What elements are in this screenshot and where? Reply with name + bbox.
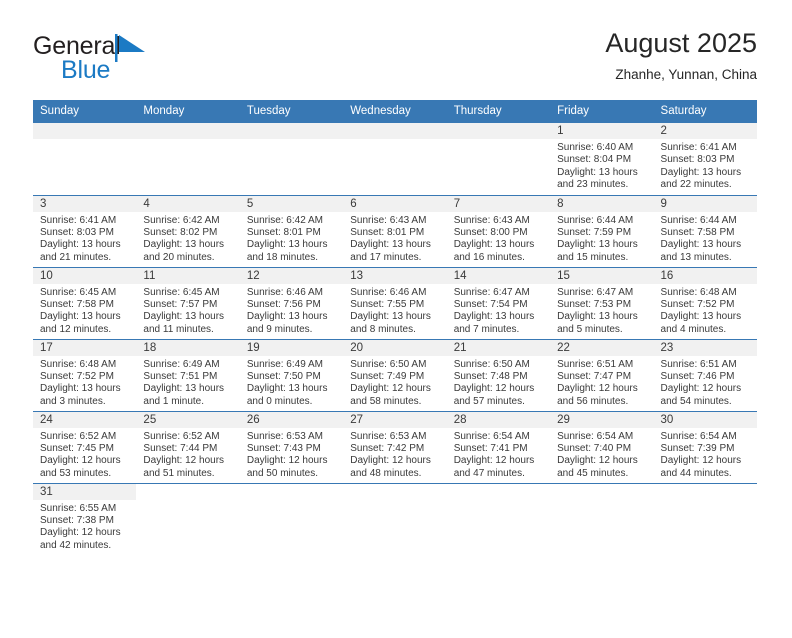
day-detail-line: Sunset: 7:39 PM: [661, 443, 751, 455]
calendar-day-cell[interactable]: 16Sunrise: 6:48 AMSunset: 7:52 PMDayligh…: [654, 267, 757, 339]
day-detail-line: Sunset: 8:00 PM: [454, 227, 544, 239]
weekday-header-friday: Friday: [550, 100, 653, 123]
day-detail-line: Sunrise: 6:46 AM: [350, 287, 440, 299]
day-detail-line: Sunrise: 6:43 AM: [350, 215, 440, 227]
day-detail-line: Sunset: 7:53 PM: [557, 299, 647, 311]
day-details: Sunrise: 6:42 AMSunset: 8:01 PMDaylight:…: [240, 212, 343, 265]
day-number: 11: [136, 268, 239, 284]
calendar-day-cell[interactable]: 19Sunrise: 6:49 AMSunset: 7:50 PMDayligh…: [240, 339, 343, 411]
day-detail-line: and 1 minute.: [143, 396, 233, 408]
calendar-day-cell[interactable]: 29Sunrise: 6:54 AMSunset: 7:40 PMDayligh…: [550, 411, 653, 483]
day-detail-line: and 5 minutes.: [557, 324, 647, 336]
day-detail-line: Sunrise: 6:41 AM: [40, 215, 130, 227]
day-number: 24: [33, 412, 136, 428]
calendar-body: 1Sunrise: 6:40 AMSunset: 8:04 PMDaylight…: [33, 123, 757, 555]
calendar-day-cell[interactable]: 31Sunrise: 6:55 AMSunset: 7:38 PMDayligh…: [33, 483, 136, 555]
day-detail-line: Sunset: 7:43 PM: [247, 443, 337, 455]
day-number: [550, 484, 653, 500]
day-detail-line: Daylight: 12 hours: [661, 383, 751, 395]
calendar-day-cell[interactable]: 26Sunrise: 6:53 AMSunset: 7:43 PMDayligh…: [240, 411, 343, 483]
day-detail-line: Daylight: 13 hours: [661, 239, 751, 251]
day-detail-line: and 54 minutes.: [661, 396, 751, 408]
day-detail-line: Daylight: 12 hours: [350, 455, 440, 467]
day-detail-line: and 48 minutes.: [350, 468, 440, 480]
calendar-empty-cell: [240, 123, 343, 195]
day-number: 26: [240, 412, 343, 428]
day-details: Sunrise: 6:43 AMSunset: 8:00 PMDaylight:…: [447, 212, 550, 265]
day-detail-line: Daylight: 13 hours: [40, 383, 130, 395]
calendar-day-cell[interactable]: 30Sunrise: 6:54 AMSunset: 7:39 PMDayligh…: [654, 411, 757, 483]
day-details: Sunrise: 6:50 AMSunset: 7:49 PMDaylight:…: [343, 356, 446, 409]
day-detail-line: Daylight: 12 hours: [661, 455, 751, 467]
day-detail-line: Daylight: 13 hours: [557, 239, 647, 251]
day-details: Sunrise: 6:40 AMSunset: 8:04 PMDaylight:…: [550, 139, 653, 192]
day-number: 12: [240, 268, 343, 284]
day-detail-line: and 13 minutes.: [661, 252, 751, 264]
day-number: 31: [33, 484, 136, 500]
day-detail-line: Sunrise: 6:54 AM: [454, 431, 544, 443]
day-number: [240, 123, 343, 139]
day-details: Sunrise: 6:53 AMSunset: 7:42 PMDaylight:…: [343, 428, 446, 481]
day-detail-line: Daylight: 12 hours: [454, 455, 544, 467]
day-detail-line: and 4 minutes.: [661, 324, 751, 336]
calendar-empty-cell: [654, 483, 757, 555]
day-number: 20: [343, 340, 446, 356]
day-detail-line: and 0 minutes.: [247, 396, 337, 408]
calendar-empty-cell: [447, 123, 550, 195]
day-number: [136, 484, 239, 500]
day-detail-line: and 57 minutes.: [454, 396, 544, 408]
day-detail-line: Sunset: 8:03 PM: [661, 154, 751, 166]
day-detail-line: Daylight: 12 hours: [143, 455, 233, 467]
day-detail-line: and 15 minutes.: [557, 252, 647, 264]
day-details: Sunrise: 6:46 AMSunset: 7:55 PMDaylight:…: [343, 284, 446, 337]
day-detail-line: Daylight: 12 hours: [247, 455, 337, 467]
day-detail-line: Sunset: 8:01 PM: [247, 227, 337, 239]
day-detail-line: and 51 minutes.: [143, 468, 233, 480]
day-detail-line: and 21 minutes.: [40, 252, 130, 264]
day-number: 19: [240, 340, 343, 356]
calendar-day-cell[interactable]: 15Sunrise: 6:47 AMSunset: 7:53 PMDayligh…: [550, 267, 653, 339]
day-detail-line: Sunset: 7:58 PM: [661, 227, 751, 239]
day-number: 25: [136, 412, 239, 428]
day-detail-line: Daylight: 12 hours: [40, 455, 130, 467]
weekday-header-monday: Monday: [136, 100, 239, 123]
day-detail-line: Sunrise: 6:54 AM: [557, 431, 647, 443]
day-detail-line: Sunset: 7:55 PM: [350, 299, 440, 311]
day-detail-line: Sunrise: 6:48 AM: [40, 359, 130, 371]
day-details: Sunrise: 6:51 AMSunset: 7:46 PMDaylight:…: [654, 356, 757, 409]
day-detail-line: Sunrise: 6:44 AM: [557, 215, 647, 227]
day-detail-line: Daylight: 13 hours: [350, 239, 440, 251]
day-detail-line: and 23 minutes.: [557, 179, 647, 191]
calendar-day-cell[interactable]: 14Sunrise: 6:47 AMSunset: 7:54 PMDayligh…: [447, 267, 550, 339]
calendar-day-cell[interactable]: 22Sunrise: 6:51 AMSunset: 7:47 PMDayligh…: [550, 339, 653, 411]
day-detail-line: Daylight: 13 hours: [143, 383, 233, 395]
day-number: [136, 123, 239, 139]
day-detail-line: and 45 minutes.: [557, 468, 647, 480]
day-detail-line: and 8 minutes.: [350, 324, 440, 336]
day-detail-line: Sunrise: 6:45 AM: [143, 287, 233, 299]
day-detail-line: Sunrise: 6:44 AM: [661, 215, 751, 227]
day-detail-line: Sunrise: 6:45 AM: [40, 287, 130, 299]
day-detail-line: Sunset: 7:42 PM: [350, 443, 440, 455]
day-number: 29: [550, 412, 653, 428]
calendar-empty-cell: [240, 483, 343, 555]
day-detail-line: Sunset: 7:59 PM: [557, 227, 647, 239]
day-detail-line: and 58 minutes.: [350, 396, 440, 408]
day-number: 16: [654, 268, 757, 284]
day-detail-line: and 22 minutes.: [661, 179, 751, 191]
day-details: Sunrise: 6:54 AMSunset: 7:40 PMDaylight:…: [550, 428, 653, 481]
day-detail-line: Sunrise: 6:54 AM: [661, 431, 751, 443]
calendar-week-row: 31Sunrise: 6:55 AMSunset: 7:38 PMDayligh…: [33, 483, 757, 555]
calendar-empty-cell: [33, 123, 136, 195]
day-detail-line: Sunrise: 6:43 AM: [454, 215, 544, 227]
day-details: Sunrise: 6:52 AMSunset: 7:45 PMDaylight:…: [33, 428, 136, 481]
day-detail-line: Daylight: 13 hours: [454, 311, 544, 323]
weekday-header-thursday: Thursday: [447, 100, 550, 123]
day-number: 28: [447, 412, 550, 428]
day-detail-line: Sunrise: 6:50 AM: [350, 359, 440, 371]
day-detail-line: Daylight: 13 hours: [557, 167, 647, 179]
day-detail-line: Sunset: 8:02 PM: [143, 227, 233, 239]
day-detail-line: Daylight: 12 hours: [557, 455, 647, 467]
day-number: 14: [447, 268, 550, 284]
day-number: 27: [343, 412, 446, 428]
page-subtitle: Zhanhe, Yunnan, China: [605, 64, 757, 86]
day-details: Sunrise: 6:45 AMSunset: 7:57 PMDaylight:…: [136, 284, 239, 337]
calendar-day-cell[interactable]: 2Sunrise: 6:41 AMSunset: 8:03 PMDaylight…: [654, 123, 757, 195]
day-number: 1: [550, 123, 653, 139]
day-number: [343, 123, 446, 139]
day-number: 22: [550, 340, 653, 356]
day-number: [654, 484, 757, 500]
calendar-day-cell[interactable]: 28Sunrise: 6:54 AMSunset: 7:41 PMDayligh…: [447, 411, 550, 483]
calendar-empty-cell: [447, 483, 550, 555]
calendar-week-row: 1Sunrise: 6:40 AMSunset: 8:04 PMDaylight…: [33, 123, 757, 195]
day-detail-line: Sunrise: 6:49 AM: [247, 359, 337, 371]
day-detail-line: Daylight: 13 hours: [143, 239, 233, 251]
day-details: Sunrise: 6:50 AMSunset: 7:48 PMDaylight:…: [447, 356, 550, 409]
day-detail-line: and 7 minutes.: [454, 324, 544, 336]
day-number: 2: [654, 123, 757, 139]
day-detail-line: Daylight: 13 hours: [350, 311, 440, 323]
day-detail-line: and 3 minutes.: [40, 396, 130, 408]
day-number: 4: [136, 196, 239, 212]
day-detail-line: Sunset: 7:49 PM: [350, 371, 440, 383]
day-number: [343, 484, 446, 500]
calendar-week-row: 3Sunrise: 6:41 AMSunset: 8:03 PMDaylight…: [33, 195, 757, 267]
day-details: Sunrise: 6:47 AMSunset: 7:53 PMDaylight:…: [550, 284, 653, 337]
calendar-day-cell[interactable]: 1Sunrise: 6:40 AMSunset: 8:04 PMDaylight…: [550, 123, 653, 195]
day-number: 6: [343, 196, 446, 212]
logo-text-blue: Blue: [61, 56, 110, 84]
day-number: [240, 484, 343, 500]
day-details: Sunrise: 6:45 AMSunset: 7:58 PMDaylight:…: [33, 284, 136, 337]
day-detail-line: Sunset: 7:40 PM: [557, 443, 647, 455]
day-detail-line: Daylight: 13 hours: [661, 167, 751, 179]
day-details: Sunrise: 6:41 AMSunset: 8:03 PMDaylight:…: [33, 212, 136, 265]
weekday-header-saturday: Saturday: [654, 100, 757, 123]
day-detail-line: Sunrise: 6:51 AM: [661, 359, 751, 371]
calendar-day-cell[interactable]: 7Sunrise: 6:43 AMSunset: 8:00 PMDaylight…: [447, 195, 550, 267]
day-detail-line: Sunset: 8:01 PM: [350, 227, 440, 239]
day-detail-line: Sunrise: 6:47 AM: [454, 287, 544, 299]
day-details: Sunrise: 6:49 AMSunset: 7:50 PMDaylight:…: [240, 356, 343, 409]
day-detail-line: and 20 minutes.: [143, 252, 233, 264]
day-number: 5: [240, 196, 343, 212]
day-detail-line: Daylight: 13 hours: [247, 311, 337, 323]
day-details: Sunrise: 6:44 AMSunset: 7:58 PMDaylight:…: [654, 212, 757, 265]
day-number: 3: [33, 196, 136, 212]
masthead: General Blue August 2025 Zhanhe, Yunnan,…: [33, 26, 757, 100]
day-detail-line: Sunrise: 6:53 AM: [350, 431, 440, 443]
calendar-grid: SundayMondayTuesdayWednesdayThursdayFrid…: [33, 100, 757, 555]
day-details: Sunrise: 6:49 AMSunset: 7:51 PMDaylight:…: [136, 356, 239, 409]
day-detail-line: and 47 minutes.: [454, 468, 544, 480]
triangle-logo-icon: [115, 34, 146, 62]
day-detail-line: Daylight: 13 hours: [661, 311, 751, 323]
day-number: 21: [447, 340, 550, 356]
day-details: Sunrise: 6:43 AMSunset: 8:01 PMDaylight:…: [343, 212, 446, 265]
calendar-day-cell[interactable]: 5Sunrise: 6:42 AMSunset: 8:01 PMDaylight…: [240, 195, 343, 267]
day-detail-line: Sunset: 7:51 PM: [143, 371, 233, 383]
day-details: Sunrise: 6:46 AMSunset: 7:56 PMDaylight:…: [240, 284, 343, 337]
calendar-day-cell[interactable]: 25Sunrise: 6:52 AMSunset: 7:44 PMDayligh…: [136, 411, 239, 483]
calendar-day-cell[interactable]: 8Sunrise: 6:44 AMSunset: 7:59 PMDaylight…: [550, 195, 653, 267]
day-detail-line: Sunrise: 6:52 AM: [143, 431, 233, 443]
day-detail-line: Sunset: 7:57 PM: [143, 299, 233, 311]
day-number: 10: [33, 268, 136, 284]
day-detail-line: Daylight: 13 hours: [454, 239, 544, 251]
day-number: 7: [447, 196, 550, 212]
calendar-day-cell[interactable]: 6Sunrise: 6:43 AMSunset: 8:01 PMDaylight…: [343, 195, 446, 267]
day-detail-line: Sunset: 7:38 PM: [40, 515, 130, 527]
day-detail-line: Sunset: 7:56 PM: [247, 299, 337, 311]
calendar-day-cell[interactable]: 20Sunrise: 6:50 AMSunset: 7:49 PMDayligh…: [343, 339, 446, 411]
day-detail-line: Sunrise: 6:42 AM: [247, 215, 337, 227]
calendar-day-cell[interactable]: 9Sunrise: 6:44 AMSunset: 7:58 PMDaylight…: [654, 195, 757, 267]
weekday-header-sunday: Sunday: [33, 100, 136, 123]
day-detail-line: Daylight: 13 hours: [143, 311, 233, 323]
day-number: 23: [654, 340, 757, 356]
day-detail-line: and 42 minutes.: [40, 540, 130, 552]
day-detail-line: Sunset: 7:50 PM: [247, 371, 337, 383]
day-number: 9: [654, 196, 757, 212]
day-details: Sunrise: 6:55 AMSunset: 7:38 PMDaylight:…: [33, 500, 136, 553]
calendar-empty-cell: [136, 483, 239, 555]
day-detail-line: and 12 minutes.: [40, 324, 130, 336]
day-details: Sunrise: 6:53 AMSunset: 7:43 PMDaylight:…: [240, 428, 343, 481]
day-detail-line: Sunset: 7:52 PM: [40, 371, 130, 383]
calendar-week-row: 17Sunrise: 6:48 AMSunset: 7:52 PMDayligh…: [33, 339, 757, 411]
title-block: August 2025 Zhanhe, Yunnan, China: [605, 26, 757, 86]
day-details: Sunrise: 6:42 AMSunset: 8:02 PMDaylight:…: [136, 212, 239, 265]
day-number: 13: [343, 268, 446, 284]
day-detail-line: Sunset: 7:45 PM: [40, 443, 130, 455]
day-detail-line: Sunrise: 6:48 AM: [661, 287, 751, 299]
day-detail-line: Sunrise: 6:51 AM: [557, 359, 647, 371]
day-detail-line: Sunrise: 6:49 AM: [143, 359, 233, 371]
day-detail-line: and 56 minutes.: [557, 396, 647, 408]
day-number: [447, 123, 550, 139]
day-detail-line: Sunset: 7:48 PM: [454, 371, 544, 383]
day-details: Sunrise: 6:47 AMSunset: 7:54 PMDaylight:…: [447, 284, 550, 337]
day-detail-line: Sunset: 7:58 PM: [40, 299, 130, 311]
day-detail-line: Sunset: 7:47 PM: [557, 371, 647, 383]
general-blue-logo[interactable]: General Blue: [33, 32, 233, 90]
calendar-day-cell[interactable]: 4Sunrise: 6:42 AMSunset: 8:02 PMDaylight…: [136, 195, 239, 267]
day-detail-line: Sunrise: 6:53 AM: [247, 431, 337, 443]
day-detail-line: Sunrise: 6:41 AM: [661, 142, 751, 154]
day-detail-line: Sunset: 7:41 PM: [454, 443, 544, 455]
day-detail-line: Sunset: 7:52 PM: [661, 299, 751, 311]
day-detail-line: and 53 minutes.: [40, 468, 130, 480]
day-detail-line: Sunrise: 6:50 AM: [454, 359, 544, 371]
calendar-day-cell[interactable]: 13Sunrise: 6:46 AMSunset: 7:55 PMDayligh…: [343, 267, 446, 339]
day-detail-line: Daylight: 12 hours: [454, 383, 544, 395]
day-detail-line: and 18 minutes.: [247, 252, 337, 264]
day-details: Sunrise: 6:54 AMSunset: 7:41 PMDaylight:…: [447, 428, 550, 481]
calendar-day-cell[interactable]: 11Sunrise: 6:45 AMSunset: 7:57 PMDayligh…: [136, 267, 239, 339]
calendar-day-cell[interactable]: 23Sunrise: 6:51 AMSunset: 7:46 PMDayligh…: [654, 339, 757, 411]
day-detail-line: Daylight: 13 hours: [40, 311, 130, 323]
day-details: Sunrise: 6:52 AMSunset: 7:44 PMDaylight:…: [136, 428, 239, 481]
day-number: 18: [136, 340, 239, 356]
day-detail-line: Daylight: 12 hours: [40, 527, 130, 539]
day-details: Sunrise: 6:48 AMSunset: 7:52 PMDaylight:…: [33, 356, 136, 409]
day-detail-line: and 16 minutes.: [454, 252, 544, 264]
calendar-day-cell[interactable]: 10Sunrise: 6:45 AMSunset: 7:58 PMDayligh…: [33, 267, 136, 339]
day-detail-line: and 9 minutes.: [247, 324, 337, 336]
calendar-day-cell[interactable]: 24Sunrise: 6:52 AMSunset: 7:45 PMDayligh…: [33, 411, 136, 483]
day-detail-line: and 44 minutes.: [661, 468, 751, 480]
calendar-page: General Blue August 2025 Zhanhe, Yunnan,…: [0, 26, 792, 638]
day-number: 17: [33, 340, 136, 356]
day-details: Sunrise: 6:51 AMSunset: 7:47 PMDaylight:…: [550, 356, 653, 409]
calendar-empty-cell: [550, 483, 653, 555]
weekday-header-wednesday: Wednesday: [343, 100, 446, 123]
day-detail-line: Sunrise: 6:42 AM: [143, 215, 233, 227]
day-detail-line: Daylight: 13 hours: [247, 239, 337, 251]
day-detail-line: Sunrise: 6:55 AM: [40, 503, 130, 515]
weekday-header-row: SundayMondayTuesdayWednesdayThursdayFrid…: [33, 100, 757, 123]
calendar-day-cell[interactable]: 3Sunrise: 6:41 AMSunset: 8:03 PMDaylight…: [33, 195, 136, 267]
day-detail-line: Sunrise: 6:52 AM: [40, 431, 130, 443]
day-number: [447, 484, 550, 500]
day-detail-line: Sunrise: 6:46 AM: [247, 287, 337, 299]
calendar-empty-cell: [136, 123, 239, 195]
weekday-header-tuesday: Tuesday: [240, 100, 343, 123]
calendar-day-cell[interactable]: 21Sunrise: 6:50 AMSunset: 7:48 PMDayligh…: [447, 339, 550, 411]
calendar-day-cell[interactable]: 12Sunrise: 6:46 AMSunset: 7:56 PMDayligh…: [240, 267, 343, 339]
day-detail-line: Sunrise: 6:47 AM: [557, 287, 647, 299]
calendar-empty-cell: [343, 123, 446, 195]
day-detail-line: Daylight: 13 hours: [557, 311, 647, 323]
day-detail-line: Sunset: 8:04 PM: [557, 154, 647, 166]
day-detail-line: Daylight: 12 hours: [350, 383, 440, 395]
day-number: 8: [550, 196, 653, 212]
day-detail-line: Sunset: 7:54 PM: [454, 299, 544, 311]
day-number: 30: [654, 412, 757, 428]
day-details: Sunrise: 6:41 AMSunset: 8:03 PMDaylight:…: [654, 139, 757, 192]
calendar-week-row: 24Sunrise: 6:52 AMSunset: 7:45 PMDayligh…: [33, 411, 757, 483]
calendar-day-cell[interactable]: 18Sunrise: 6:49 AMSunset: 7:51 PMDayligh…: [136, 339, 239, 411]
day-details: Sunrise: 6:44 AMSunset: 7:59 PMDaylight:…: [550, 212, 653, 265]
day-details: Sunrise: 6:54 AMSunset: 7:39 PMDaylight:…: [654, 428, 757, 481]
calendar-day-cell[interactable]: 17Sunrise: 6:48 AMSunset: 7:52 PMDayligh…: [33, 339, 136, 411]
day-detail-line: Daylight: 13 hours: [40, 239, 130, 251]
calendar-week-row: 10Sunrise: 6:45 AMSunset: 7:58 PMDayligh…: [33, 267, 757, 339]
day-number: 15: [550, 268, 653, 284]
day-detail-line: Daylight: 13 hours: [247, 383, 337, 395]
day-detail-line: Sunset: 7:44 PM: [143, 443, 233, 455]
day-detail-line: Sunset: 7:46 PM: [661, 371, 751, 383]
day-detail-line: and 50 minutes.: [247, 468, 337, 480]
page-title: August 2025: [605, 26, 757, 60]
day-detail-line: Sunrise: 6:40 AM: [557, 142, 647, 154]
day-detail-line: and 17 minutes.: [350, 252, 440, 264]
day-detail-line: and 11 minutes.: [143, 324, 233, 336]
calendar-header-row: SundayMondayTuesdayWednesdayThursdayFrid…: [33, 100, 757, 123]
day-detail-line: Daylight: 12 hours: [557, 383, 647, 395]
calendar-day-cell[interactable]: 27Sunrise: 6:53 AMSunset: 7:42 PMDayligh…: [343, 411, 446, 483]
day-number: [33, 123, 136, 139]
day-detail-line: Sunset: 8:03 PM: [40, 227, 130, 239]
day-details: Sunrise: 6:48 AMSunset: 7:52 PMDaylight:…: [654, 284, 757, 337]
calendar-empty-cell: [343, 483, 446, 555]
